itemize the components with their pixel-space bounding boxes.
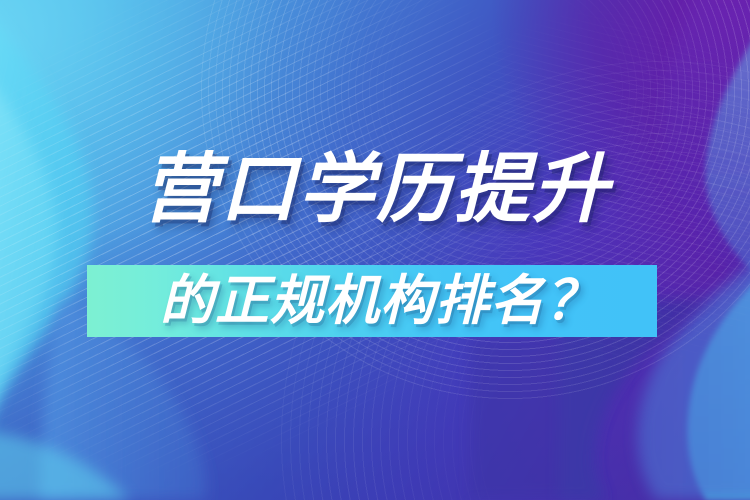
- banner-headline: 营口学历提升: [142, 152, 610, 228]
- promo-banner: 营口学历提升 的正规机构排名？: [0, 0, 750, 500]
- banner-subtitle: 的正规机构排名？: [160, 274, 600, 328]
- banner-content: 营口学历提升 的正规机构排名？: [0, 0, 750, 500]
